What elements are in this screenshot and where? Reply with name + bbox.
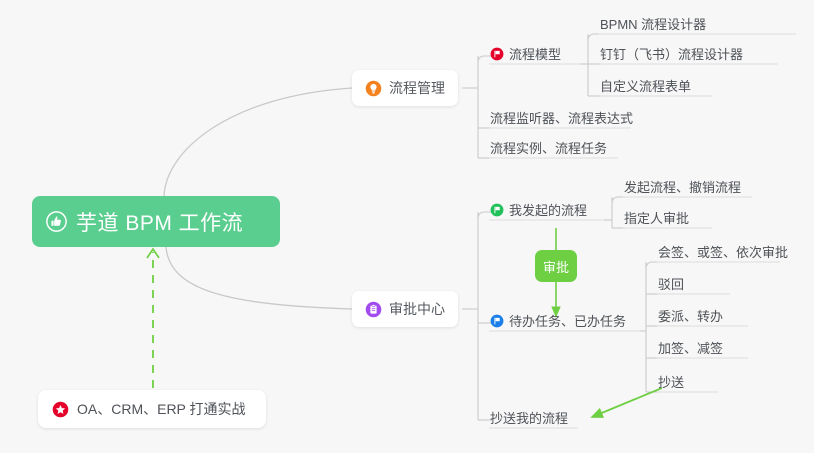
leaf-label-my-started-processes: 我发起的流程 bbox=[509, 203, 587, 218]
flag-icon bbox=[490, 203, 504, 217]
leaf-label-process-model: 流程模型 bbox=[509, 47, 561, 62]
leaf-carbon-copy[interactable]: 抄送 bbox=[658, 372, 684, 396]
leaf-label-delegate-transfer: 委派、转办 bbox=[658, 309, 723, 324]
leaf-bpmn-designer[interactable]: BPMN 流程设计器 bbox=[600, 14, 706, 38]
approval-badge-label: 审批 bbox=[543, 257, 569, 276]
leaf-label-initiate-cancel: 发起流程、撤销流程 bbox=[624, 180, 741, 195]
flag-icon bbox=[490, 47, 504, 61]
leaf-label-dingtalk-designer: 钉钉（飞书）流程设计器 bbox=[600, 47, 743, 62]
leaf-add-remove-sign[interactable]: 加签、减签 bbox=[658, 338, 723, 362]
lightbulb-icon bbox=[365, 80, 382, 97]
leaf-label-add-remove-sign: 加签、减签 bbox=[658, 341, 723, 356]
thumbs-up-icon bbox=[46, 211, 67, 232]
leaf-label-todo-done-tasks: 待办任务、已办任务 bbox=[509, 314, 626, 329]
branch-label-process-management: 流程管理 bbox=[389, 78, 445, 98]
wire-root-to-process-management bbox=[164, 88, 352, 196]
leaf-countersign[interactable]: 会签、或签、依次审批 bbox=[658, 242, 788, 266]
wire-callout-arrowhead bbox=[147, 249, 159, 258]
leaf-process-instance[interactable]: 流程实例、流程任务 bbox=[490, 138, 607, 162]
star-icon bbox=[52, 401, 69, 418]
leaf-delegate-transfer[interactable]: 委派、转办 bbox=[658, 306, 723, 330]
flag-icon bbox=[490, 314, 504, 328]
leaf-todo-done-tasks[interactable]: 待办任务、已办任务 bbox=[490, 311, 626, 335]
clipboard-icon bbox=[365, 301, 382, 318]
leaf-dingtalk-designer[interactable]: 钉钉（飞书）流程设计器 bbox=[600, 44, 743, 68]
leaf-custom-form[interactable]: 自定义流程表单 bbox=[600, 76, 691, 100]
leaf-label-cc-to-me: 抄送我的流程 bbox=[490, 411, 568, 426]
leaf-label-process-instance: 流程实例、流程任务 bbox=[490, 141, 607, 156]
leaf-initiate-cancel[interactable]: 发起流程、撤销流程 bbox=[624, 177, 741, 201]
leaf-my-started-processes[interactable]: 我发起的流程 bbox=[490, 200, 587, 224]
leaf-assignee-approval[interactable]: 指定人审批 bbox=[624, 208, 689, 232]
branch-node-process-management[interactable]: 流程管理 bbox=[352, 70, 458, 106]
root-label: 芋道 BPM 工作流 bbox=[76, 207, 243, 237]
branch-node-approval-center[interactable]: 审批中心 bbox=[352, 291, 458, 327]
leaf-process-model[interactable]: 流程模型 bbox=[490, 44, 561, 68]
leaf-process-listener[interactable]: 流程监听器、流程表达式 bbox=[490, 108, 633, 132]
approval-badge[interactable]: 审批 bbox=[535, 250, 577, 282]
leaf-label-carbon-copy: 抄送 bbox=[658, 375, 684, 390]
leaf-reject[interactable]: 驳回 bbox=[658, 274, 684, 298]
mindmap-canvas: 芋道 BPM 工作流 流程管理 审批中心 流程模型 BPMN 流程设计 bbox=[0, 0, 814, 453]
leaf-label-assignee-approval: 指定人审批 bbox=[624, 211, 689, 226]
callout-integration[interactable]: OA、CRM、ERP 打通实战 bbox=[38, 390, 266, 428]
root-node[interactable]: 芋道 BPM 工作流 bbox=[32, 196, 280, 247]
leaf-label-custom-form: 自定义流程表单 bbox=[600, 79, 691, 94]
leaf-label-bpmn-designer: BPMN 流程设计器 bbox=[600, 17, 706, 32]
branch-label-approval-center: 审批中心 bbox=[389, 299, 445, 319]
leaf-label-process-listener: 流程监听器、流程表达式 bbox=[490, 111, 633, 126]
leaf-cc-to-me[interactable]: 抄送我的流程 bbox=[490, 408, 568, 432]
wire-cc-to-cc-to-me-arrow bbox=[592, 388, 662, 417]
wire-root-to-approval-center bbox=[166, 247, 352, 309]
leaf-label-reject: 驳回 bbox=[658, 277, 684, 292]
callout-label: OA、CRM、ERP 打通实战 bbox=[77, 399, 246, 419]
leaf-label-countersign: 会签、或签、依次审批 bbox=[658, 245, 788, 260]
